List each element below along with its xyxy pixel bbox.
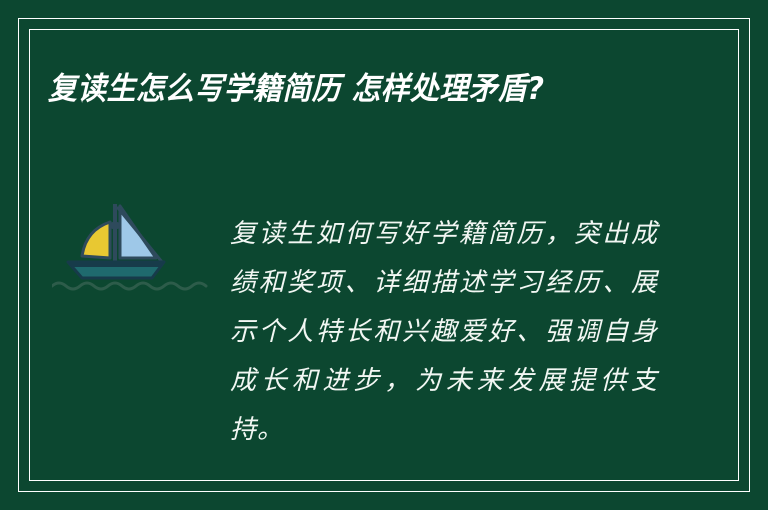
page-title: 复读生怎么写学籍简历 怎样处理矛盾? (48, 64, 625, 115)
sailboat-illustration (52, 196, 212, 291)
body-paragraph: 复读生如何写好学籍简历，突出成绩和奖项、详细描述学习经历、展示个人特长和兴趣爱好… (230, 210, 658, 455)
poster-canvas: 复读生怎么写学籍简历 怎样处理矛盾? 复读生如何写好学籍简历，突出成绩和奖项、详… (0, 0, 768, 510)
